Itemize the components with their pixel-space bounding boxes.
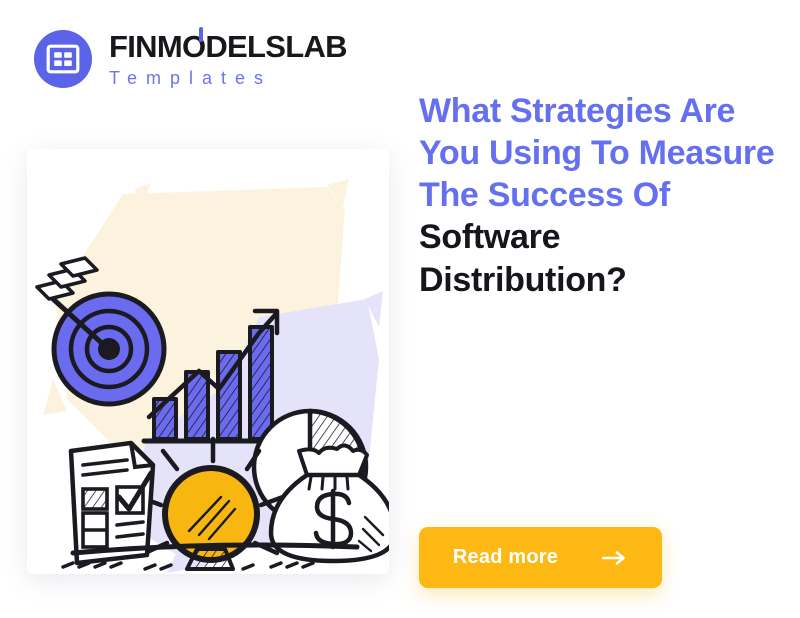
brand-subtitle: Templates (109, 69, 347, 87)
illustration-card (27, 149, 389, 574)
brand-logo[interactable]: FINMODELSLAB Templates (34, 30, 347, 88)
grid-squares-icon (34, 30, 92, 88)
read-more-label: Read more (453, 546, 558, 569)
brand-wordmark: FINMODELSLAB Templates (109, 31, 347, 87)
checklist-document-icon (71, 443, 153, 563)
poster-canvas: FINMODELSLAB Templates (0, 0, 800, 618)
headline-block: What Strategies Are You Using To Measure… (419, 90, 775, 301)
brand-title-text: FINMODELSLAB (109, 29, 347, 64)
power-bar-icon (199, 27, 203, 42)
arrow-right-icon (602, 551, 628, 565)
brand-title: FINMODELSLAB (109, 31, 347, 62)
page-title: What Strategies Are You Using To Measure… (419, 90, 775, 301)
headline-tail: Software Distribution? (419, 216, 775, 300)
read-more-button[interactable]: Read more (419, 527, 662, 588)
business-metrics-illustration (27, 149, 389, 574)
headline-lead: What Strategies Are You Using To Measure… (419, 90, 775, 216)
